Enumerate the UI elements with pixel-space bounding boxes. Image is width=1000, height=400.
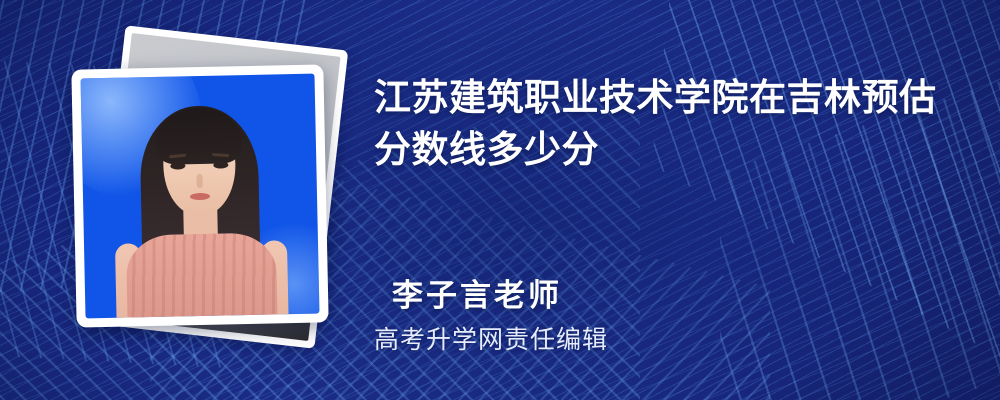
headline-line-2: 分数线多少分 [374, 124, 974, 176]
author-name: 李子言老师 [392, 270, 562, 315]
portrait-figure [81, 74, 320, 319]
promo-banner: 江苏建筑职业技术学院在吉林预估 分数线多少分 李子言老师 高考升学网责任编辑 [0, 0, 1000, 400]
photo-card-stack [60, 35, 360, 355]
teacher-portrait-photo [81, 74, 320, 319]
portrait-nose [197, 174, 203, 188]
photo-card-front [71, 64, 328, 327]
headline-line-1: 江苏建筑职业技术学院在吉林预估 [374, 72, 974, 124]
author-role: 高考升学网责任编辑 [374, 320, 608, 356]
portrait-dress [126, 232, 278, 318]
portrait-dress-texture [126, 232, 278, 318]
banner-headline: 江苏建筑职业技术学院在吉林预估 分数线多少分 [374, 72, 974, 176]
banner-text-block: 江苏建筑职业技术学院在吉林预估 分数线多少分 李子言老师 高考升学网责任编辑 [374, 0, 984, 400]
